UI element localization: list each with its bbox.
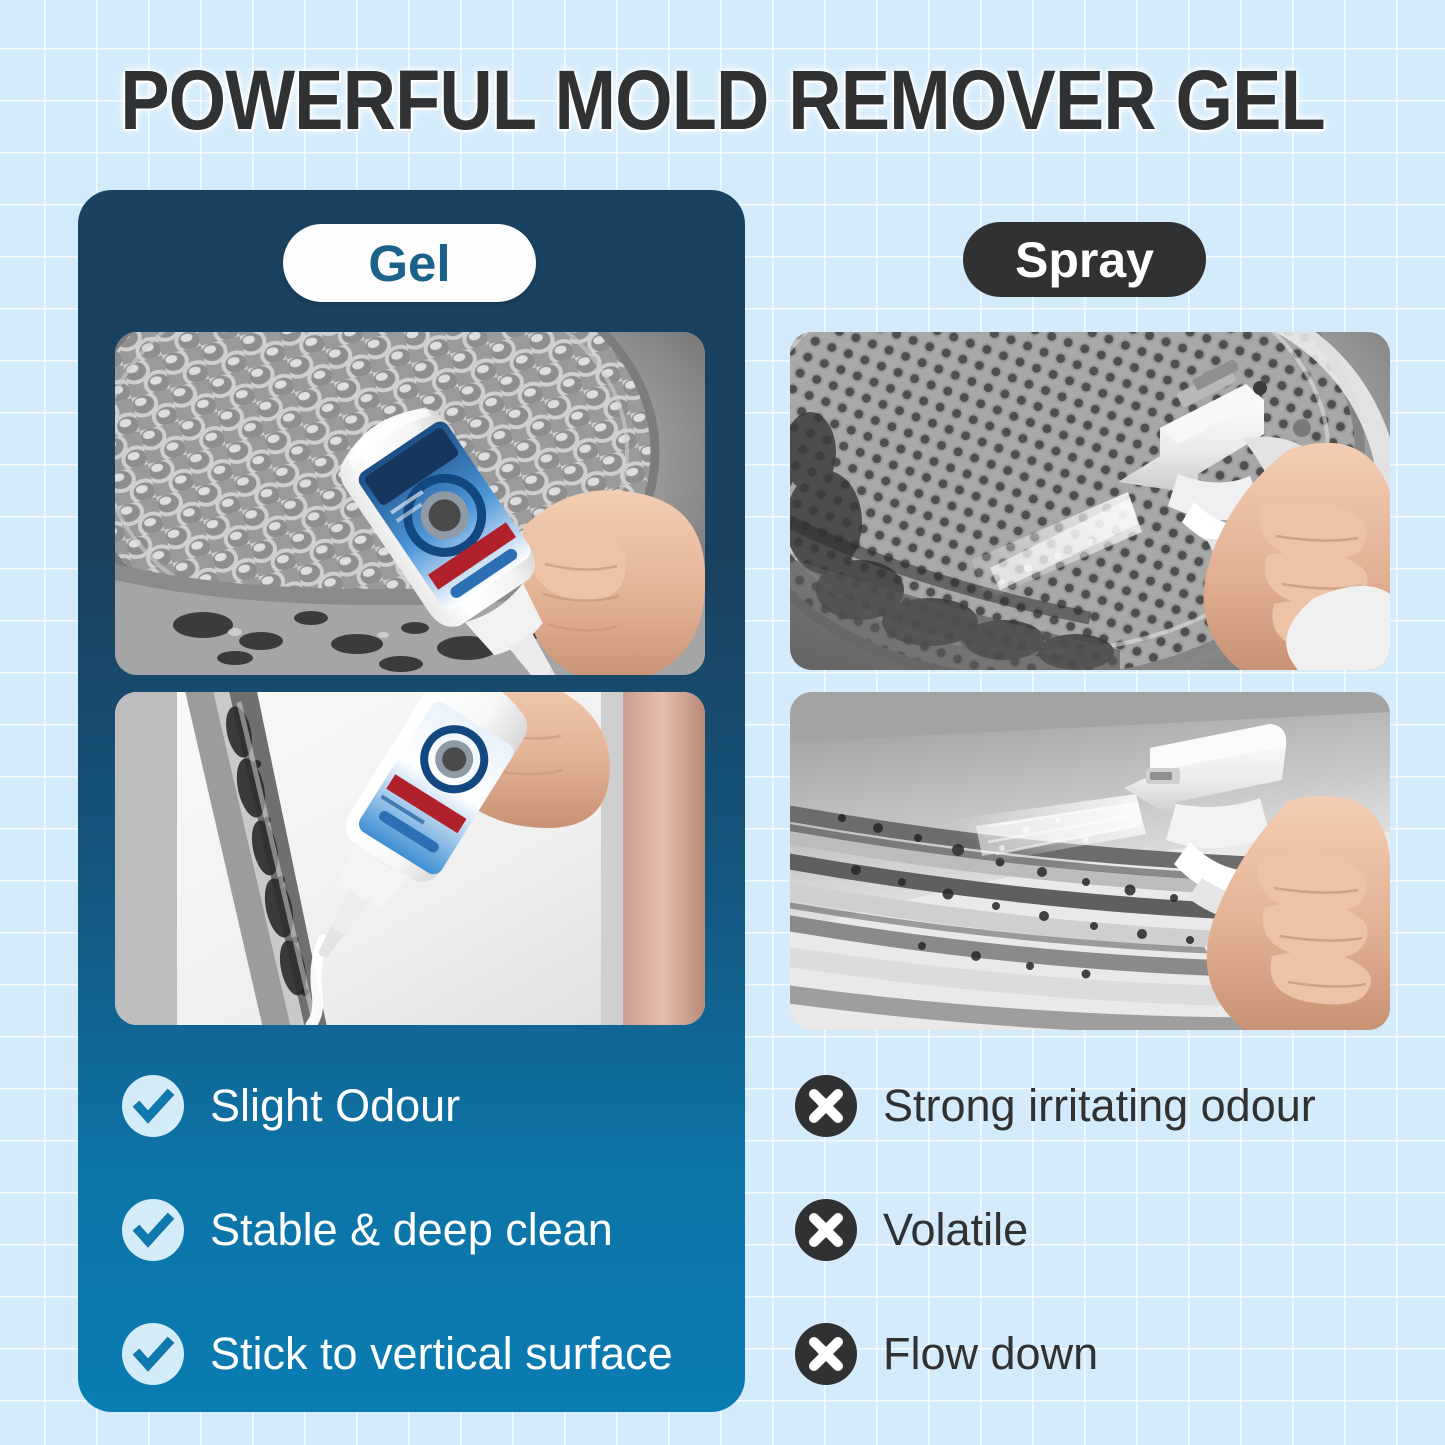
page-title: POWERFUL MOLD REMOVER GEL bbox=[87, 52, 1359, 149]
feature-row: Stable & deep clean bbox=[122, 1182, 732, 1278]
cross-icon bbox=[795, 1199, 857, 1261]
feature-label: Stable & deep clean bbox=[210, 1206, 613, 1253]
feature-row: Flow down bbox=[795, 1306, 1395, 1402]
feature-label: Strong irritating odour bbox=[883, 1082, 1316, 1129]
feature-label: Stick to vertical surface bbox=[210, 1330, 673, 1377]
feature-row: Stick to vertical surface bbox=[122, 1306, 732, 1402]
feature-label: Flow down bbox=[883, 1330, 1098, 1377]
check-icon bbox=[122, 1199, 184, 1261]
cross-icon bbox=[795, 1323, 857, 1385]
spray-feature-list: Strong irritating odour Volatile Flow do… bbox=[795, 1058, 1395, 1430]
infographic-canvas: POWERFUL MOLD REMOVER GEL Gel Spray bbox=[0, 0, 1445, 1445]
feature-row: Slight Odour bbox=[122, 1058, 732, 1154]
check-icon bbox=[122, 1075, 184, 1137]
photo-spray-on-door-seal bbox=[790, 692, 1390, 1030]
photo-spray-on-washing-machine-drum bbox=[790, 332, 1390, 670]
feature-row: Strong irritating odour bbox=[795, 1058, 1395, 1154]
feature-label: Volatile bbox=[883, 1206, 1028, 1253]
cross-icon bbox=[795, 1075, 857, 1137]
check-icon bbox=[122, 1323, 184, 1385]
gel-feature-list: Slight Odour Stable & deep clean Stick t… bbox=[122, 1058, 732, 1430]
feature-row: Volatile bbox=[795, 1182, 1395, 1278]
spray-column-badge: Spray bbox=[963, 222, 1206, 297]
feature-label: Slight Odour bbox=[210, 1082, 460, 1129]
photo-gel-applied-to-door-seal bbox=[115, 692, 705, 1025]
gel-column-badge: Gel bbox=[283, 224, 536, 302]
photo-gel-applied-to-washing-machine-drum bbox=[115, 332, 705, 675]
